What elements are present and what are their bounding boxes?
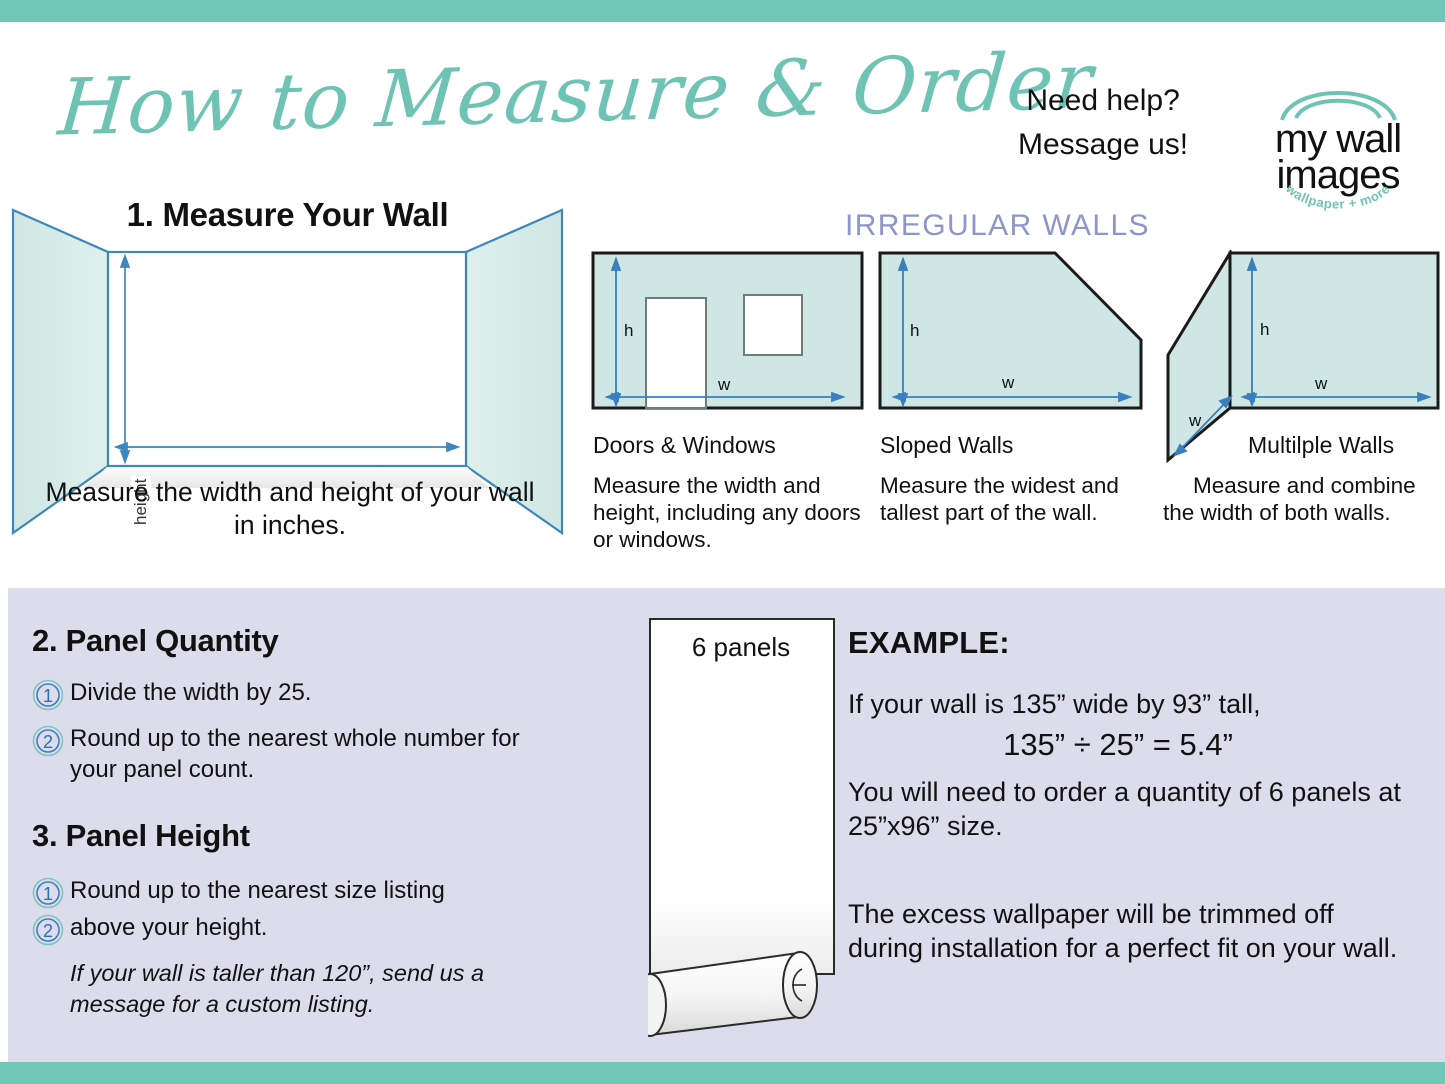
step3-item-2: 2 above your height. bbox=[28, 913, 588, 947]
svg-text:h: h bbox=[1260, 320, 1269, 339]
step-number-badge-1: 1 bbox=[28, 678, 70, 712]
step2-item-2: 2 Round up to the nearest whole number f… bbox=[28, 724, 568, 785]
bottom-accent-bar bbox=[0, 1062, 1445, 1084]
svg-text:h: h bbox=[910, 321, 919, 340]
step-number-badge-1: 1 bbox=[28, 876, 70, 910]
step3-note: If your wall is taller than 120”, send u… bbox=[70, 958, 570, 1019]
svg-text:w: w bbox=[717, 375, 731, 394]
card-title: Doors & Windows bbox=[593, 432, 776, 459]
infographic-page: How to Measure & Order Need help? Messag… bbox=[0, 0, 1445, 1084]
step3-heading: 3. Panel Height bbox=[32, 818, 250, 854]
wallpaper-roll-illustration: 6 panels bbox=[648, 617, 848, 1037]
step3-item-1: 1 Round up to the nearest size listing bbox=[28, 876, 588, 910]
top-accent-bar bbox=[0, 0, 1445, 22]
help-line-2: Message us! bbox=[1018, 123, 1188, 167]
svg-text:w: w bbox=[1188, 411, 1202, 430]
example-equation: 135” ÷ 25” = 5.4” bbox=[848, 726, 1388, 765]
irregular-card-sloped-walls: h w Sloped Walls Measure the widest and … bbox=[877, 250, 1152, 580]
example-line-3: The excess wallpaper will be trimmed off… bbox=[848, 898, 1408, 966]
irregular-walls-heading: IRREGULAR WALLS bbox=[845, 209, 1150, 243]
step1-heading: 1. Measure Your Wall bbox=[0, 196, 575, 234]
step-text: Divide the width by 25. bbox=[70, 678, 311, 709]
panels-count-label: 6 panels bbox=[648, 632, 834, 663]
help-line-1: Need help? bbox=[1018, 79, 1188, 123]
irregular-card-multiple-walls: h w w Multilple Walls Measure and combin… bbox=[1160, 250, 1445, 580]
example-heading: EXAMPLE: bbox=[848, 625, 1010, 661]
step2-heading: 2. Panel Quantity bbox=[32, 623, 278, 659]
card-desc: Measure and combine the width of both wa… bbox=[1163, 472, 1443, 526]
measure-wall-section: 1. Measure Your Wall height width Measur… bbox=[0, 188, 575, 583]
page-title: How to Measure & Order bbox=[56, 43, 1096, 148]
step-number-badge-2: 2 bbox=[28, 724, 70, 758]
doors-windows-diagram: h w bbox=[590, 250, 865, 415]
sloped-wall-diagram: h w bbox=[877, 250, 1152, 415]
svg-text:w: w bbox=[1314, 374, 1328, 393]
step-text: Round up to the nearest whole number for… bbox=[70, 724, 568, 785]
card-title: Sloped Walls bbox=[880, 432, 1013, 459]
step-text: Round up to the nearest size listing bbox=[70, 876, 445, 907]
step-text: above your height. bbox=[70, 913, 267, 944]
help-block: Need help? Message us! bbox=[1018, 79, 1188, 166]
svg-text:w: w bbox=[1001, 373, 1015, 392]
svg-text:1: 1 bbox=[43, 884, 53, 904]
irregular-card-doors-windows: h w Doors & Windows Measure the width an… bbox=[590, 250, 865, 580]
step-number-badge-2: 2 bbox=[28, 913, 70, 947]
svg-text:h: h bbox=[624, 321, 633, 340]
step1-caption: Measure the width and height of your wal… bbox=[40, 476, 540, 543]
example-line-1: If your wall is 135” wide by 93” tall, bbox=[848, 688, 1408, 722]
svg-text:1: 1 bbox=[43, 686, 53, 706]
svg-text:2: 2 bbox=[43, 732, 53, 752]
brand-logo: my wall images wallpaper + more bbox=[1256, 68, 1421, 213]
step2-item-1: 1 Divide the width by 25. bbox=[28, 678, 568, 712]
card-desc: Measure the width and height, including … bbox=[593, 472, 861, 553]
card-title: Multilple Walls bbox=[1248, 432, 1394, 459]
card-desc: Measure the widest and tallest part of t… bbox=[880, 472, 1148, 526]
svg-text:2: 2 bbox=[43, 921, 53, 941]
example-line-2: You will need to order a quantity of 6 p… bbox=[848, 776, 1408, 844]
header: How to Measure & Order Need help? Messag… bbox=[0, 22, 1445, 188]
